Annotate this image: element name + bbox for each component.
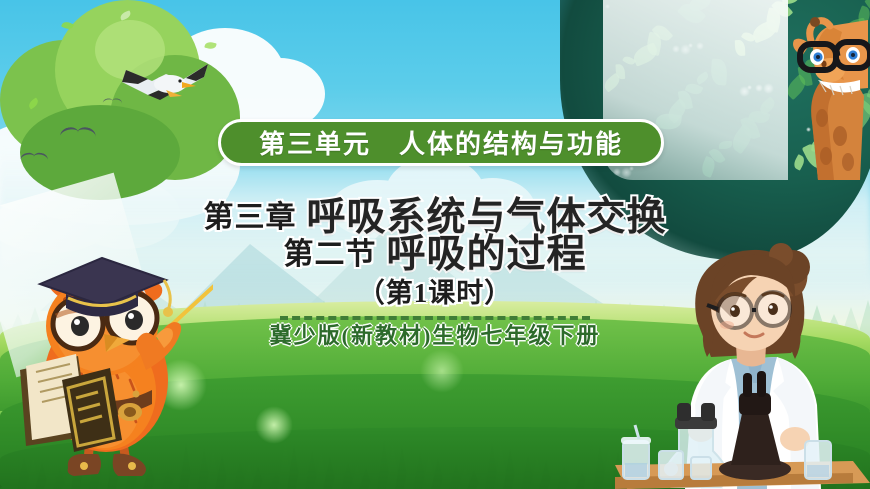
grass-glow-2 (255, 406, 293, 444)
bird-silhouette-3 (103, 98, 123, 105)
chapter-prefix: 第三章 (203, 203, 296, 237)
section-prefix: 第二节 (283, 240, 376, 274)
scientist-girl-illustration (615, 225, 870, 489)
owl-professor-mascot (18, 240, 213, 489)
chapter-title: 呼吸系统与气体交换 (306, 198, 666, 237)
seagull-icon (108, 48, 218, 106)
dashed-divider (280, 316, 590, 320)
unit-banner-text: 第三单元 人体的结构与功能 (259, 124, 623, 161)
bird-silhouette-1 (60, 127, 97, 140)
bird-silhouette-2 (21, 153, 50, 163)
giraffe-illustration (760, 0, 870, 180)
slide-canvas: 第三单元 人体的结构与功能 第三章 呼吸系统与气体交换 第二节 呼吸的过程 （第… (0, 0, 870, 489)
unit-banner: 第三单元 人体的结构与功能 (218, 119, 664, 166)
section-title: 呼吸的过程 (386, 235, 586, 274)
grass-glow-3 (420, 349, 464, 393)
